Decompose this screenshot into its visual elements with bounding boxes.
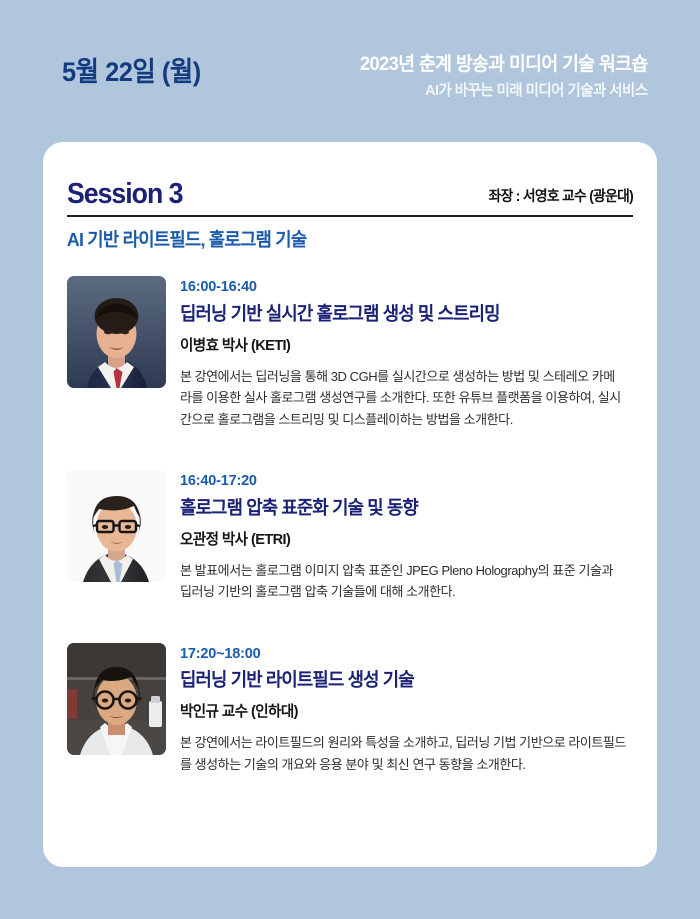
session-label: Session 3 xyxy=(67,180,182,209)
talk-time: 17:20~18:00 xyxy=(180,645,633,664)
page-banner: 5월 22일 (월) 2023년 춘계 방송과 미디어 기술 워크숍 AI가 바… xyxy=(0,0,700,142)
session-card: Session 3 좌장 : 서영호 교수 (광운대) AI 기반 라이트필드,… xyxy=(43,142,657,867)
list-item[interactable]: 17:20~18:00 딥러닝 기반 라이트필드 생성 기술 박인규 교수 (인… xyxy=(65,643,635,776)
talk-speaker: 박인규 교수 (인하대) xyxy=(180,701,619,722)
talk-description: 본 강연에서는 딥러닝을 통해 3D CGH를 실시간으로 생성하는 방법 및 … xyxy=(180,366,626,430)
talk-description: 본 강연에서는 라이트필드의 원리와 특성을 소개하고, 딥러닝 기법 기반으로… xyxy=(180,732,626,775)
session-header: Session 3 좌장 : 서영호 교수 (광운대) xyxy=(65,180,635,215)
speaker-photo-park-inkyu xyxy=(67,643,166,755)
speaker-photo-oh-kwanjung xyxy=(67,470,166,582)
talk-title: 홀로그램 압축 표준화 기술 및 동향 xyxy=(180,496,615,521)
list-item[interactable]: 16:00-16:40 딥러닝 기반 실시간 홀로그램 생성 및 스트리밍 이병… xyxy=(65,276,635,430)
speaker-photo-lee-byunghyo xyxy=(67,276,166,388)
talk-title: 딥러닝 기반 실시간 홀로그램 생성 및 스트리밍 xyxy=(180,302,615,327)
talk-content: 16:00-16:40 딥러닝 기반 실시간 홀로그램 생성 및 스트리밍 이병… xyxy=(180,276,633,430)
banner-title-group: 2023년 춘계 방송과 미디어 기술 워크숍 AI가 바꾸는 미래 미디어 기… xyxy=(348,52,648,102)
talk-list: 16:00-16:40 딥러닝 기반 실시간 홀로그램 생성 및 스트리밍 이병… xyxy=(65,276,635,775)
talk-content: 17:20~18:00 딥러닝 기반 라이트필드 생성 기술 박인규 교수 (인… xyxy=(180,643,633,776)
talk-speaker: 오관정 박사 (ETRI) xyxy=(180,529,619,550)
talk-content: 16:40-17:20 홀로그램 압축 표준화 기술 및 동향 오관정 박사 (… xyxy=(180,470,633,603)
session-topic: AI 기반 라이트필드, 홀로그램 기술 xyxy=(65,217,612,252)
list-item[interactable]: 16:40-17:20 홀로그램 압축 표준화 기술 및 동향 오관정 박사 (… xyxy=(65,470,635,603)
session-chair: 좌장 : 서영호 교수 (광운대) xyxy=(488,185,633,209)
talk-description: 본 발표에서는 홀로그램 이미지 압축 표준인 JPEG Pleno Holog… xyxy=(180,560,626,603)
talk-title: 딥러닝 기반 라이트필드 생성 기술 xyxy=(180,668,615,693)
workshop-subtitle: AI가 바꾸는 미래 미디어 기술과 서비스 xyxy=(360,80,648,103)
workshop-title: 2023년 춘계 방송과 미디어 기술 워크숍 xyxy=(360,52,648,78)
talk-speaker: 이병효 박사 (KETI) xyxy=(180,335,619,356)
banner-date: 5월 22일 (월) xyxy=(62,50,201,89)
talk-time: 16:40-17:20 xyxy=(180,472,633,491)
talk-time: 16:00-16:40 xyxy=(180,278,633,297)
